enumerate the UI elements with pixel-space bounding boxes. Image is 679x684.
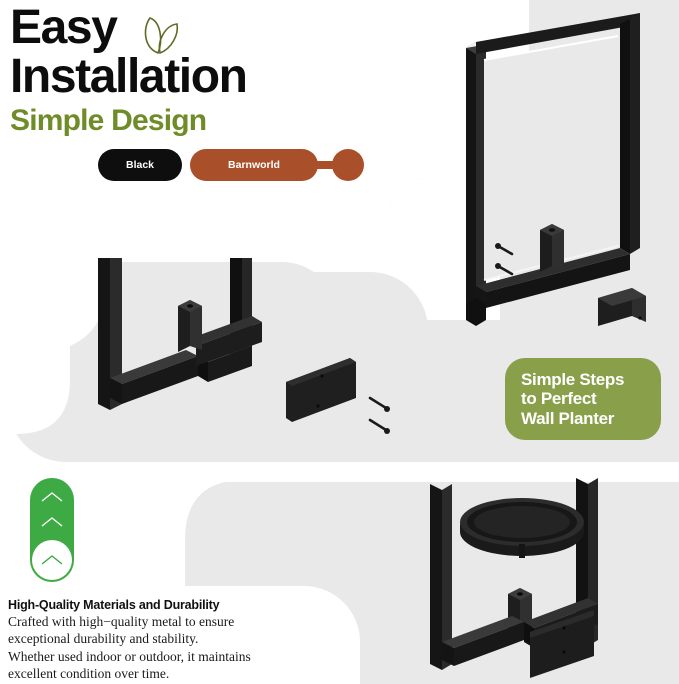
planter-tray-assembly-illustration — [400, 470, 679, 684]
color-option-barnworld[interactable]: Barnworld — [190, 149, 318, 181]
headline-subtitle: Simple Design — [10, 106, 350, 136]
color-option-row: Black Barnworld — [98, 146, 318, 184]
infographic-canvas: Easy Installation Simple Design Black Ba… — [0, 0, 679, 684]
leaf-icon — [137, 13, 183, 57]
badge-line-2: to Perfect — [521, 389, 645, 408]
feature-copy-title: High-Quality Materials and Durability — [8, 598, 338, 612]
chevron-up-icon — [40, 554, 64, 566]
feature-copy-block: High-Quality Materials and Durability Cr… — [8, 598, 338, 682]
simple-steps-badge: Simple Steps to Perfect Wall Planter — [505, 358, 661, 440]
color-option-barnworld-label: Barnworld — [228, 159, 280, 171]
badge-line-3: Wall Planter — [521, 409, 645, 428]
color-option-black-label: Black — [126, 159, 154, 171]
color-option-black[interactable]: Black — [98, 149, 182, 181]
scroll-up-indicator[interactable] — [30, 478, 74, 582]
wall-planter-frame-illustration — [440, 8, 679, 348]
feature-copy-line: Whether used indoor or outdoor, it maint… — [8, 648, 338, 665]
feature-copy-body: Crafted with high−quality metal to ensur… — [8, 613, 338, 682]
feature-copy-line: excellent condition over time. — [8, 665, 338, 682]
scroll-up-knob[interactable] — [32, 540, 72, 580]
swatch-knob — [332, 149, 364, 181]
feature-copy-line: exceptional durability and stability. — [8, 630, 338, 647]
badge-line-1: Simple Steps — [521, 370, 645, 389]
headline-line-2: Installation — [10, 53, 350, 100]
chevron-up-icon — [40, 491, 64, 503]
u-base-assembly-illustration — [90, 258, 430, 458]
feature-copy-line: Crafted with high−quality metal to ensur… — [8, 613, 338, 630]
chevron-up-icon — [40, 516, 64, 528]
